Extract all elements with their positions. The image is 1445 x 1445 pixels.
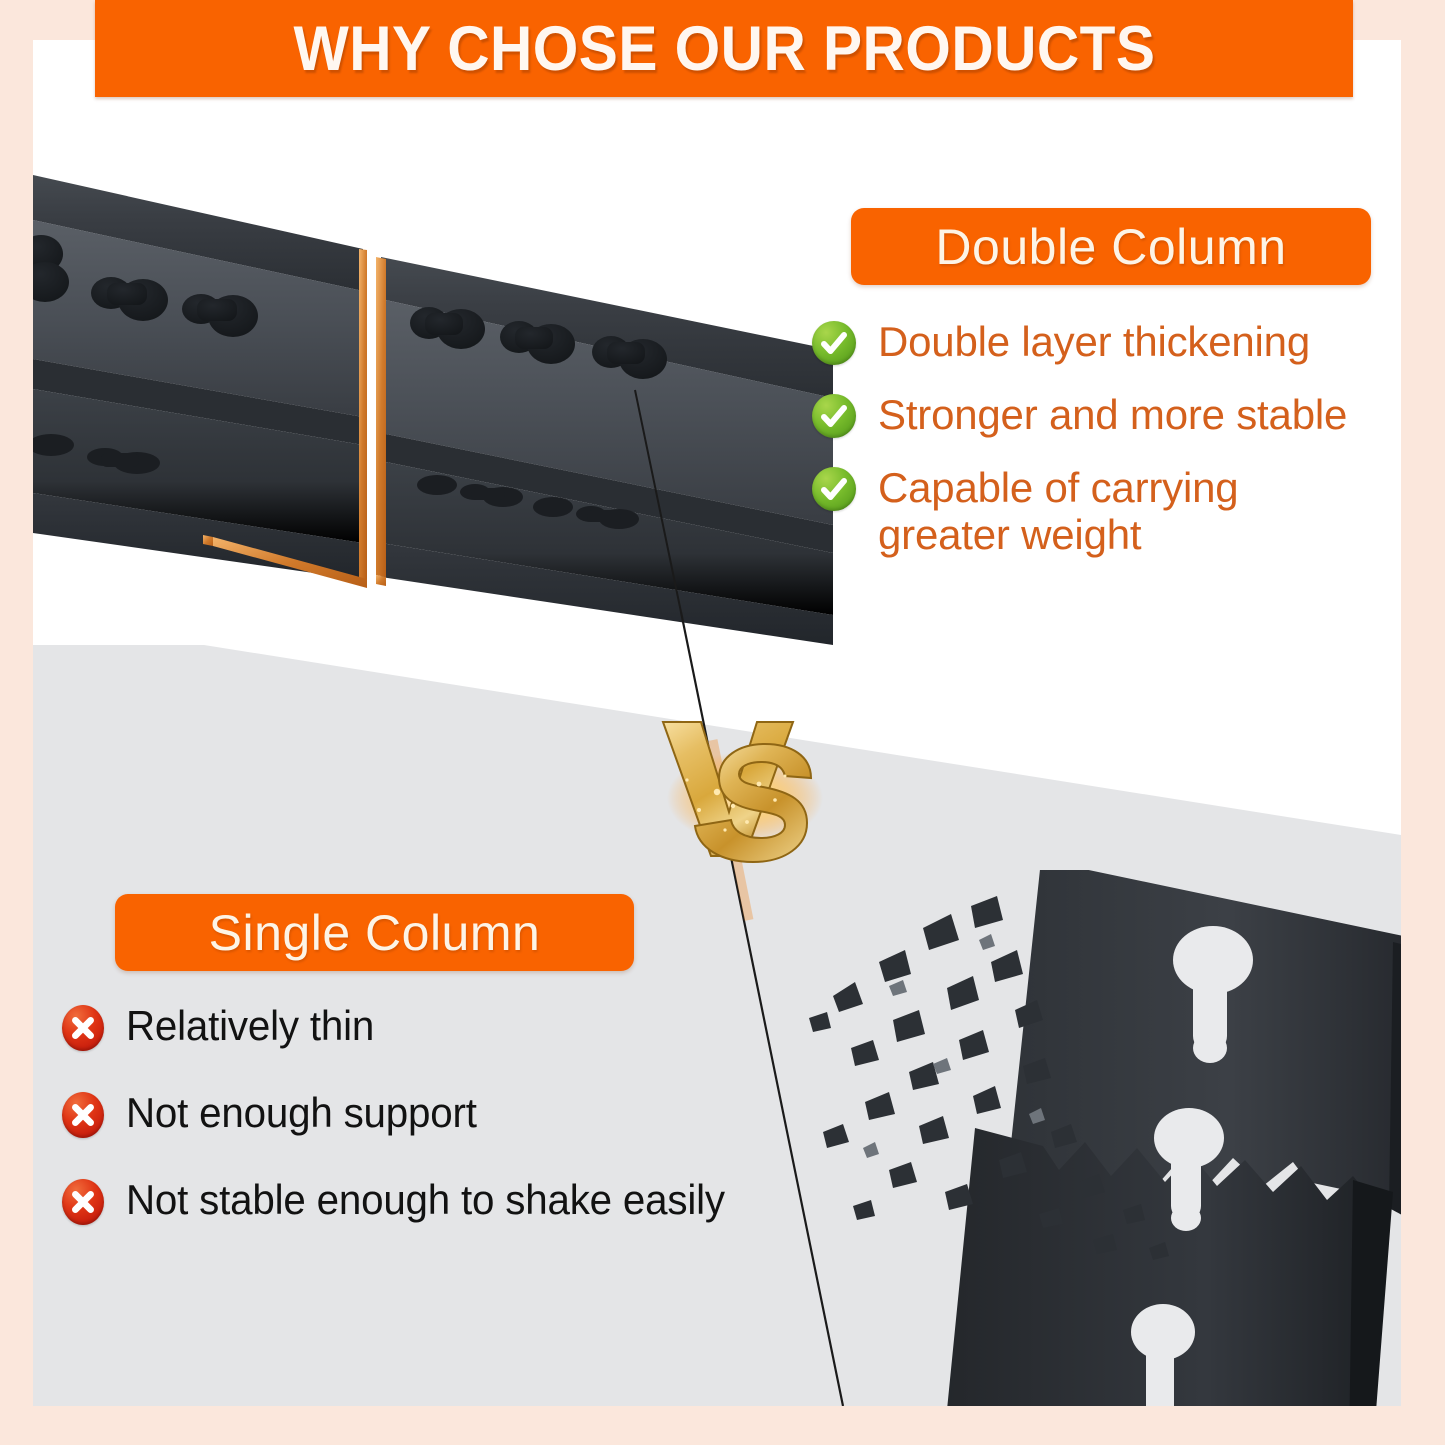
broken-single-column-image <box>793 870 1401 1406</box>
cross-circle-icon <box>62 1092 104 1138</box>
header-banner: WHY CHOSE OUR PRODUCTS <box>95 0 1353 97</box>
single-column-badge-label: Single Column <box>209 904 541 962</box>
versus-emblem <box>633 680 863 890</box>
list-item: Stronger and more stable <box>812 391 1392 438</box>
list-item-label: Relatively thin <box>126 1002 374 1049</box>
list-item: Capable of carrying greater weight <box>812 464 1392 558</box>
cross-circle-icon <box>62 1179 104 1225</box>
cross-circle-icon <box>62 1005 104 1051</box>
infographic-page: WHY CHOSE OUR PRODUCTS Double Column Dou… <box>0 0 1445 1445</box>
double-column-product-image <box>33 145 833 645</box>
list-item-label: Double layer thickening <box>878 318 1310 365</box>
list-item-label: Capable of carrying greater weight <box>878 464 1298 558</box>
double-column-badge: Double Column <box>851 208 1371 285</box>
check-circle-icon <box>812 467 856 511</box>
single-column-drawback-list: Relatively thin Not enough support Not s… <box>62 1002 842 1263</box>
page-title: WHY CHOSE OUR PRODUCTS <box>293 13 1155 85</box>
list-item: Not enough support <box>62 1089 842 1138</box>
check-circle-icon <box>812 321 856 365</box>
check-circle-icon <box>812 394 856 438</box>
double-column-benefit-list: Double layer thickening Stronger and mor… <box>812 318 1392 584</box>
single-column-badge: Single Column <box>115 894 634 971</box>
list-item-label: Stronger and more stable <box>878 391 1347 438</box>
double-column-badge-label: Double Column <box>935 218 1286 276</box>
list-item: Not stable enough to shake easily <box>62 1176 842 1225</box>
list-item: Relatively thin <box>62 1002 842 1051</box>
list-item: Double layer thickening <box>812 318 1392 365</box>
list-item-label: Not stable enough to shake easily <box>126 1176 725 1223</box>
list-item-label: Not enough support <box>126 1089 477 1136</box>
